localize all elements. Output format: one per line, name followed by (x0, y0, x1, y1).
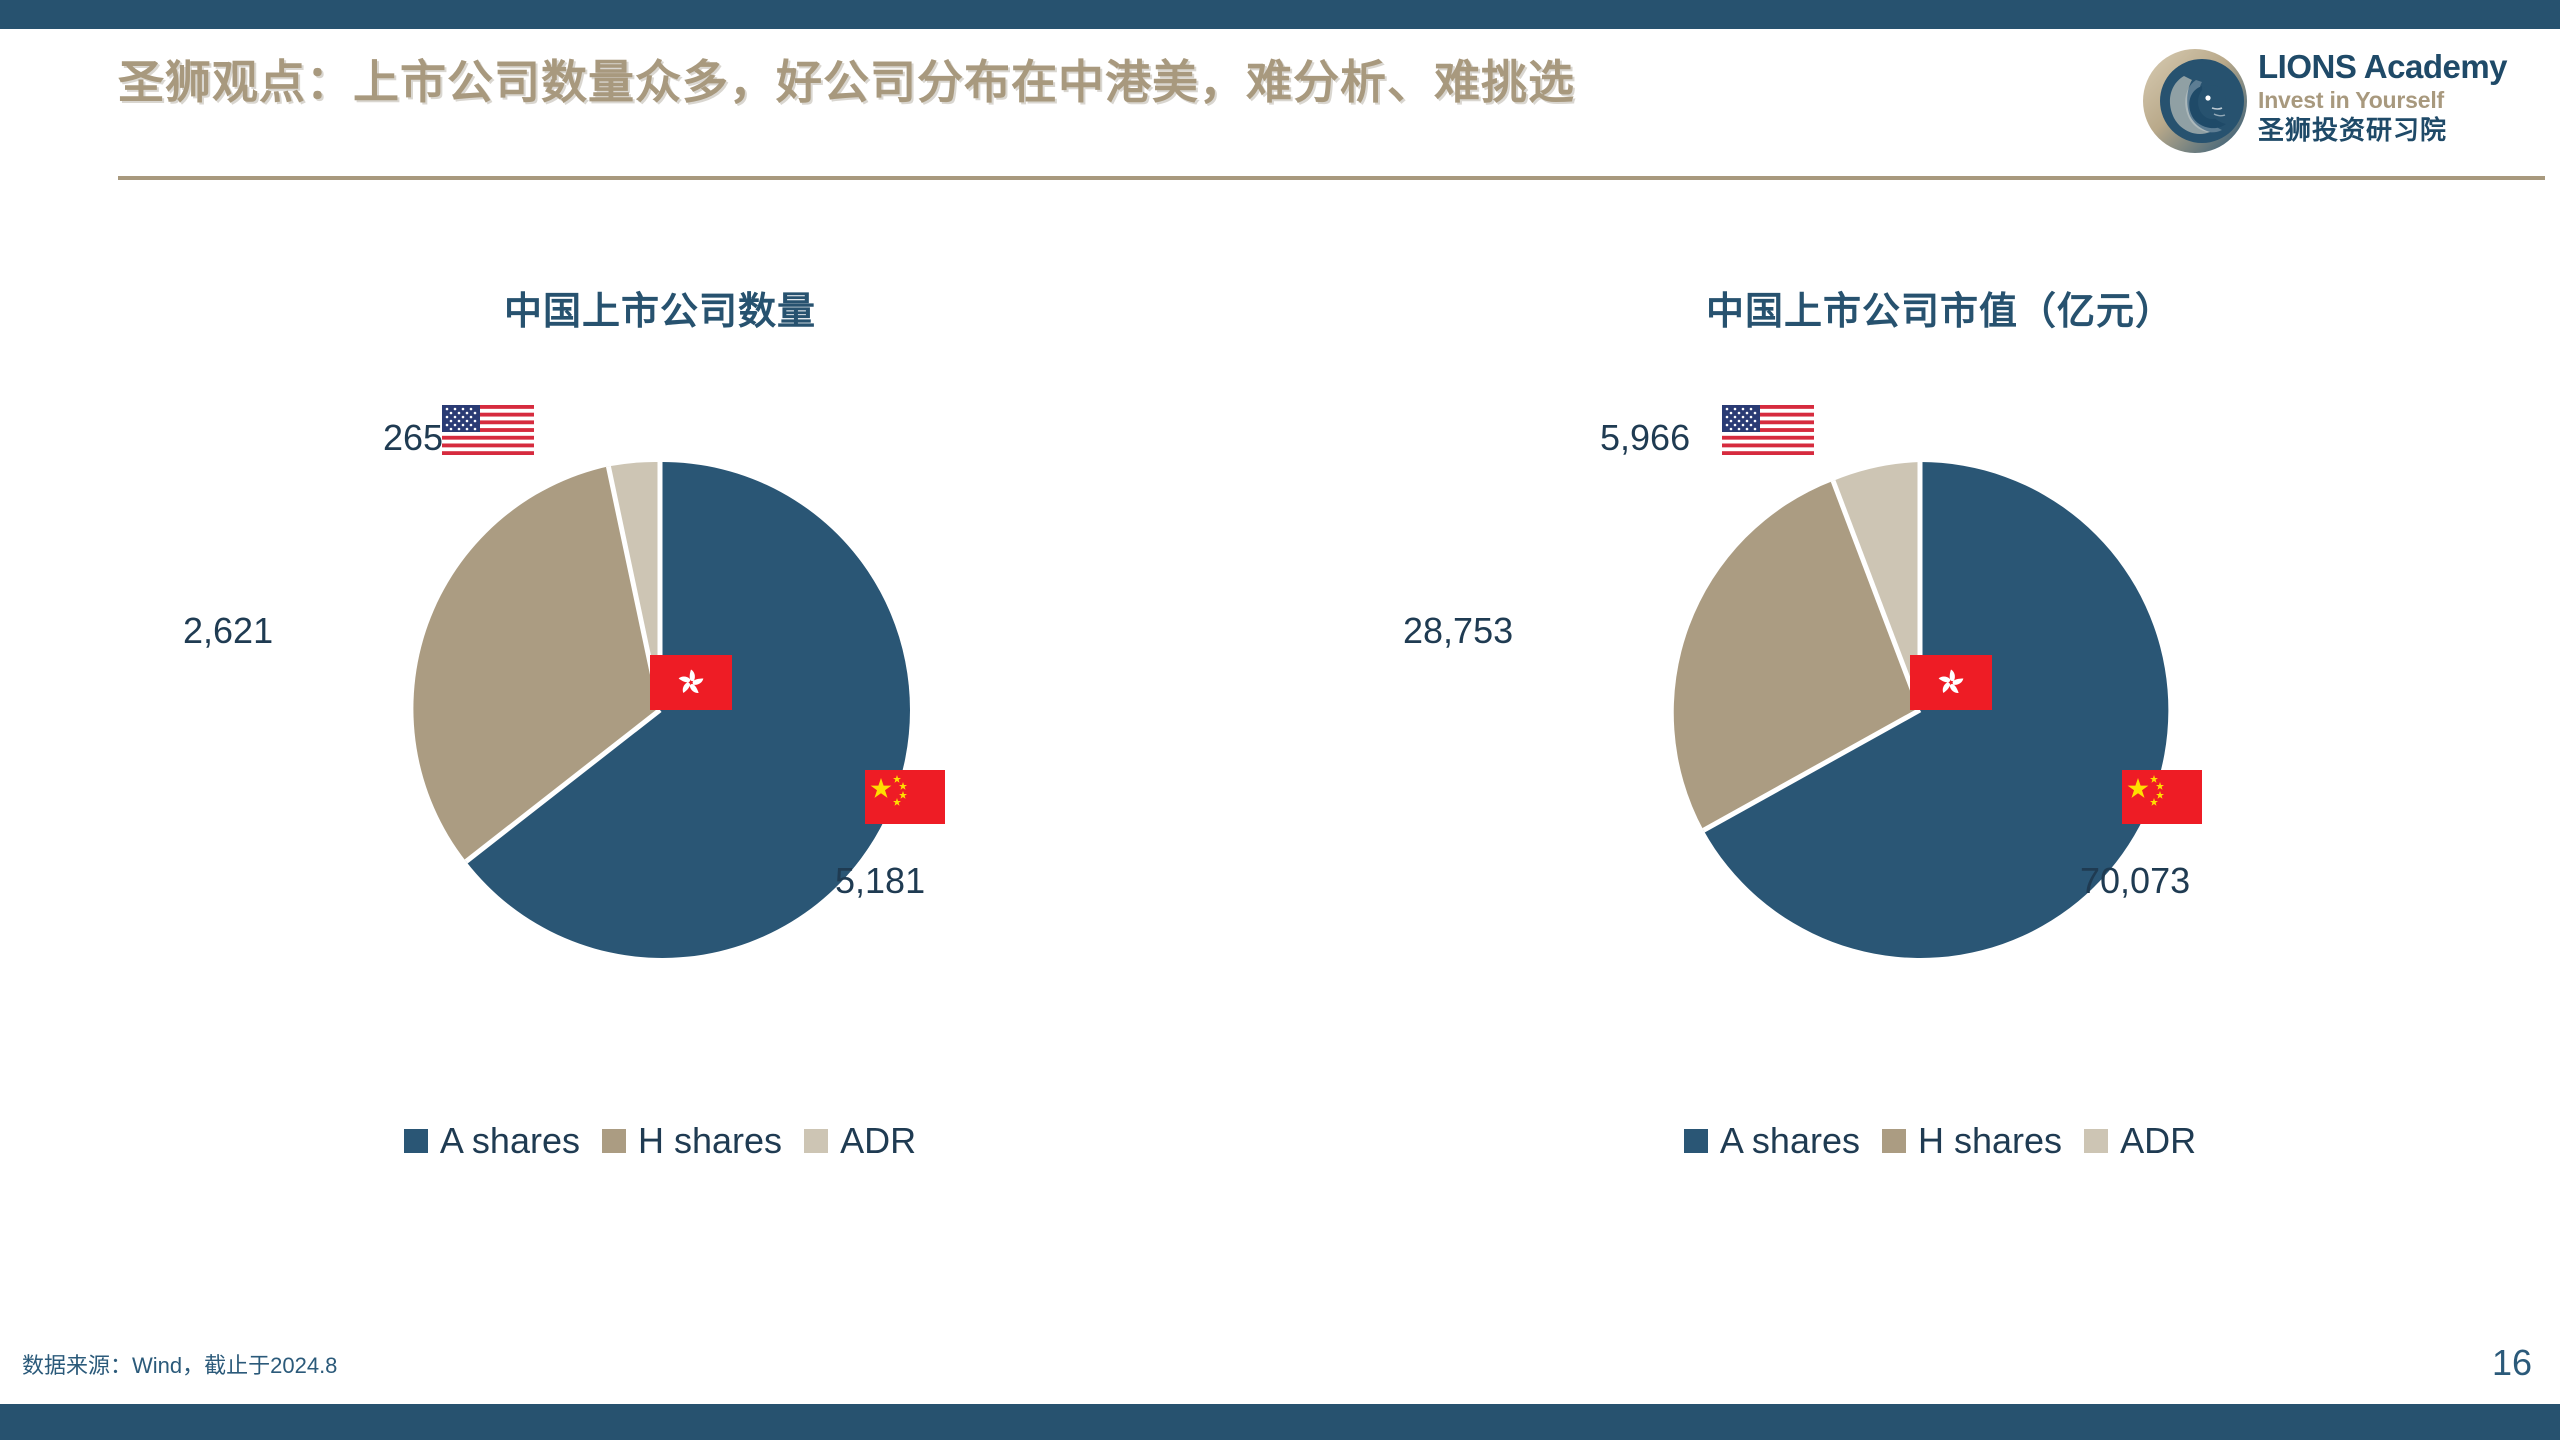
legend-swatch-a-shares (404, 1129, 428, 1153)
cn-flag-icon (865, 770, 945, 824)
legend-item-h-shares[interactable]: H shares (1882, 1120, 2062, 1162)
legend-swatch-h-shares (602, 1129, 626, 1153)
page-title: 圣狮观点：上市公司数量众多，好公司分布在中港美，难分析、难挑选 (118, 46, 1575, 112)
legend-swatch-adr (804, 1129, 828, 1153)
us-flag-icon (1722, 405, 1814, 455)
pie-wrap-company-count: 265 2,621 5,181 (60, 460, 1260, 1060)
value-label-adr: 265 (383, 417, 443, 459)
value-label-a-shares: 70,073 (2080, 860, 2190, 902)
cn-flag-icon (2122, 770, 2202, 824)
legend-swatch-a-shares (1684, 1129, 1708, 1153)
page-number: 16 (2492, 1342, 2532, 1384)
top-accent-bar (0, 0, 2560, 29)
brand-name-en: LIONS Academy (2258, 48, 2558, 86)
pie-wrap-market-cap: 5,966 28,753 70,073 (1340, 460, 2540, 1060)
hk-flag-icon (650, 655, 732, 710)
legend-item-h-shares[interactable]: H shares (602, 1120, 782, 1162)
legend-item-adr[interactable]: ADR (2084, 1120, 2196, 1162)
chart-title-company-count: 中国上市公司数量 (60, 280, 1260, 335)
value-label-h-shares: 28,753 (1403, 610, 1513, 652)
legend-label-h-shares: H shares (1918, 1120, 2062, 1162)
legend-item-adr[interactable]: ADR (804, 1120, 916, 1162)
value-label-h-shares: 2,621 (183, 610, 273, 652)
legend-label-adr: ADR (2120, 1120, 2196, 1162)
legend-label-h-shares: H shares (638, 1120, 782, 1162)
chart-market-cap: 中国上市公司市值（亿元） 5,966 28,753 70,073 (1340, 260, 2540, 1260)
legend-market-cap: A shares H shares ADR (1340, 1120, 2540, 1162)
bottom-accent-bar (0, 1404, 2560, 1440)
legend-swatch-adr (2084, 1129, 2108, 1153)
title-divider (118, 176, 2545, 180)
legend-item-a-shares[interactable]: A shares (1684, 1120, 1860, 1162)
chart-title-market-cap: 中国上市公司市值（亿元） (1340, 280, 2540, 335)
data-source-note: 数据来源：Wind，截止于2024.8 (22, 1348, 337, 1380)
legend-company-count: A shares H shares ADR (60, 1120, 1260, 1162)
us-flag-icon (442, 405, 534, 455)
legend-label-a-shares: A shares (1720, 1120, 1860, 1162)
legend-swatch-h-shares (1882, 1129, 1906, 1153)
lion-head-icon (2140, 46, 2250, 156)
brand-name-cn: 圣狮投资研习院 (2258, 114, 2558, 146)
value-label-adr: 5,966 (1600, 417, 1690, 459)
chart-company-count: 中国上市公司数量 265 2,621 5,181 (60, 260, 1260, 1260)
brand-wordmark: LIONS Academy Invest in Yourself 圣狮投资研习院 (2258, 48, 2558, 146)
legend-label-adr: ADR (840, 1120, 916, 1162)
brand-logo: LIONS Academy Invest in Yourself 圣狮投资研习院 (2140, 44, 2560, 164)
value-label-a-shares: 5,181 (835, 860, 925, 902)
legend-item-a-shares[interactable]: A shares (404, 1120, 580, 1162)
hk-flag-icon (1910, 655, 1992, 710)
legend-label-a-shares: A shares (440, 1120, 580, 1162)
slide: 圣狮观点：上市公司数量众多，好公司分布在中港美，难分析、难挑选 (0, 0, 2560, 1440)
brand-tagline: Invest in Yourself (2258, 86, 2558, 114)
